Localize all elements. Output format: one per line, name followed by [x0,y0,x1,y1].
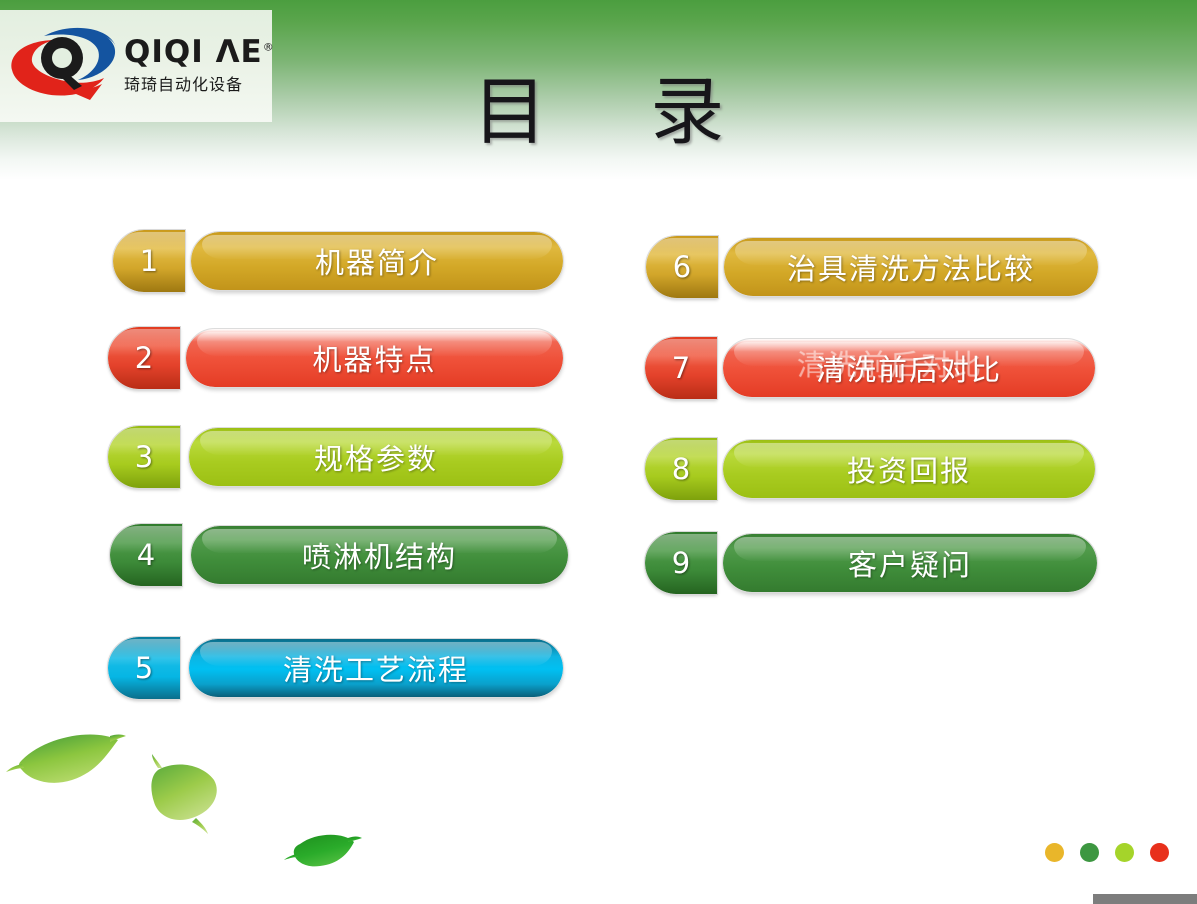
dot-gold-icon [1045,843,1064,862]
color-dot-group [1045,843,1169,862]
toc-label-8: 投资回报 [847,448,971,490]
table-of-contents: 1 机器简介 2 机器特点 3 规格参数 4 喷淋机结构 5 清洗工艺流程 6 … [0,0,1197,904]
toc-number-2: 2 [135,341,153,375]
toc-item-8[interactable]: 8 投资回报 [645,438,1095,500]
toc-label-7: 清洗前后对比 [816,347,1002,389]
toc-bar-5[interactable]: 清洗工艺流程 [189,639,563,697]
slide-canvas: QIQI ΛE® 琦琦自动化设备 目 录 1 机器简介 2 机器特点 3 规格参… [0,0,1197,904]
toc-item-5[interactable]: 5 清洗工艺流程 [108,637,563,699]
toc-badge-9: 9 [645,532,717,594]
toc-item-4[interactable]: 4 喷淋机结构 [110,524,568,586]
toc-badge-6: 6 [646,236,718,298]
toc-label-9: 客户疑问 [848,542,972,584]
toc-badge-2: 2 [108,327,180,389]
toc-item-6[interactable]: 6 治具清洗方法比较 [646,236,1098,298]
bottom-scrollbar-fragment[interactable] [1093,894,1197,904]
toc-number-3: 3 [135,440,153,474]
toc-number-4: 4 [137,538,155,572]
toc-badge-7: 7 [645,337,717,399]
toc-bar-6[interactable]: 治具清洗方法比较 [724,238,1098,296]
toc-number-5: 5 [135,651,153,685]
toc-label-6: 治具清洗方法比较 [787,246,1035,288]
toc-item-2[interactable]: 2 机器特点 [108,327,563,389]
toc-number-6: 6 [673,250,691,284]
toc-badge-5: 5 [108,637,180,699]
toc-item-9[interactable]: 9 客户疑问 [645,532,1097,594]
toc-label-2: 机器特点 [312,337,436,379]
toc-label-3: 规格参数 [314,436,438,478]
dot-red-icon [1150,843,1169,862]
toc-label-5: 清洗工艺流程 [283,647,469,689]
toc-bar-8[interactable]: 投资回报 [723,440,1095,498]
toc-item-3[interactable]: 3 规格参数 [108,426,563,488]
toc-badge-1: 1 [113,230,185,292]
toc-number-8: 8 [672,452,690,486]
toc-bar-9[interactable]: 客户疑问 [723,534,1097,592]
toc-bar-2[interactable]: 机器特点 [186,329,563,387]
toc-number-7: 7 [672,351,690,385]
toc-badge-8: 8 [645,438,717,500]
toc-badge-3: 3 [108,426,180,488]
toc-bar-1[interactable]: 机器简介 [191,232,563,290]
toc-number-9: 9 [672,546,690,580]
toc-label-1: 机器简介 [315,240,439,282]
toc-badge-4: 4 [110,524,182,586]
toc-label-4: 喷淋机结构 [302,534,457,576]
toc-item-1[interactable]: 1 机器简介 [113,230,563,292]
toc-bar-7[interactable]: 清洗前后对比 [723,339,1095,397]
dot-green-icon [1080,843,1099,862]
toc-bar-4[interactable]: 喷淋机结构 [191,526,568,584]
toc-number-1: 1 [140,244,158,278]
dot-lime-icon [1115,843,1134,862]
toc-item-7[interactable]: 7 清洗前后对比 清洗前后对比 [645,337,1095,399]
toc-bar-3[interactable]: 规格参数 [189,428,563,486]
